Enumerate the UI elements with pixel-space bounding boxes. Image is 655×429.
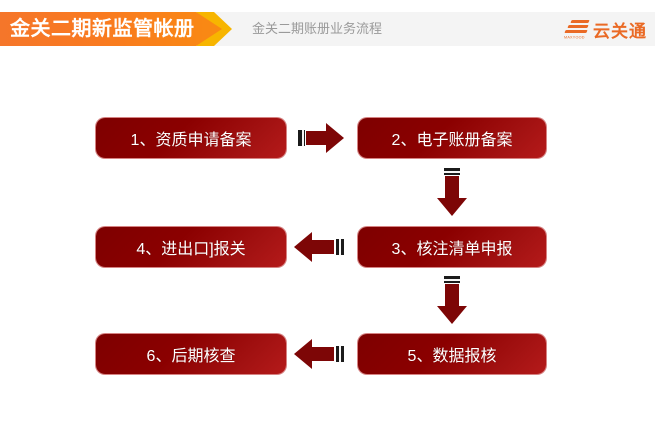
flow-node-2[interactable]: 2、电子账册备案 bbox=[358, 118, 546, 158]
arrow-right-icon bbox=[298, 122, 348, 154]
process-flow-diagram: 1、资质申请备案 2、电子账册备案 4、进出口]报关 3、核注清单申报 6、后期… bbox=[0, 46, 655, 429]
flow-node-label: 2、电子账册备案 bbox=[392, 126, 513, 150]
flow-node-label: 1、资质申请备案 bbox=[131, 126, 252, 150]
flow-node-label: 4、进出口]报关 bbox=[136, 235, 245, 259]
flow-node-1[interactable]: 1、资质申请备案 bbox=[96, 118, 286, 158]
page-header: 金关二期新监管帐册 金关二期账册业务流程 MAXYOOD 云关通 bbox=[0, 12, 655, 46]
three-slanted-bars-logo-icon: MAXYOOD bbox=[564, 18, 590, 40]
flow-node-label: 5、数据报核 bbox=[408, 342, 497, 366]
flow-node-3[interactable]: 3、核注清单申报 bbox=[358, 227, 546, 267]
flow-node-6[interactable]: 6、后期核查 bbox=[96, 334, 286, 374]
arrow-left-icon bbox=[292, 231, 344, 263]
arrow-down-icon bbox=[435, 168, 469, 220]
flow-node-label: 6、后期核查 bbox=[147, 342, 236, 366]
arrow-left-icon bbox=[292, 338, 344, 370]
brand-logo: MAXYOOD 云关通 bbox=[564, 16, 647, 42]
brand-name: 云关通 bbox=[593, 17, 647, 42]
arrow-down-icon bbox=[435, 276, 469, 328]
logo-caption: MAXYOOD bbox=[564, 35, 593, 39]
flow-node-4[interactable]: 4、进出口]报关 bbox=[96, 227, 286, 267]
flow-node-5[interactable]: 5、数据报核 bbox=[358, 334, 546, 374]
flow-node-label: 3、核注清单申报 bbox=[392, 235, 513, 259]
header-title-block: 金关二期新监管帐册 bbox=[0, 12, 232, 46]
page-title: 金关二期新监管帐册 bbox=[10, 12, 195, 46]
header-subtitle: 金关二期账册业务流程 bbox=[252, 12, 382, 46]
